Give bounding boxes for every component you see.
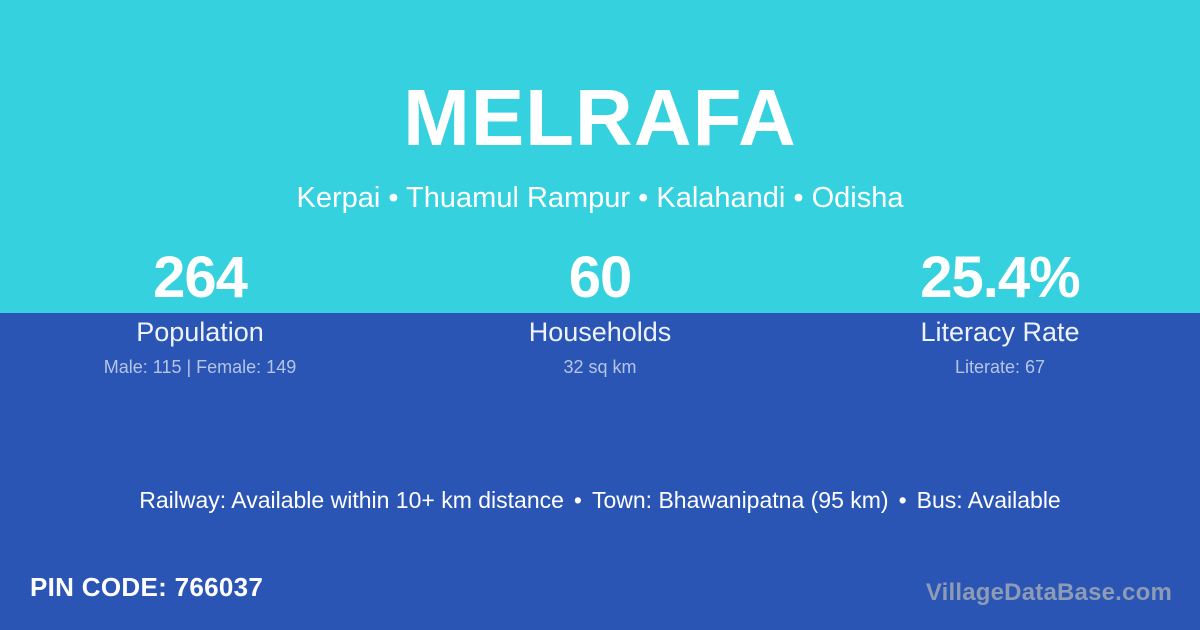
- stat-detail-population: Male: 115 | Female: 149: [0, 356, 400, 378]
- bus-info: Bus: Available: [917, 487, 1061, 513]
- site-brand-watermark: VillageDataBase.com: [926, 578, 1172, 608]
- stat-population: 264 Population Male: 115 | Female: 149: [0, 243, 400, 378]
- stat-value-households: 60: [400, 243, 800, 313]
- stat-literacy-rate: 25.4% Literacy Rate Literate: 67: [800, 243, 1200, 378]
- pin-code-label: PIN CODE: 766037: [30, 571, 263, 603]
- stat-detail-households: 32 sq km: [400, 356, 800, 378]
- stat-label-households: Households: [400, 316, 800, 348]
- stat-households: 60 Households 32 sq km: [400, 243, 800, 378]
- page-title: MELRAFA: [0, 78, 1200, 158]
- railway-info: Railway: Available within 10+ km distanc…: [139, 487, 564, 513]
- stat-detail-literacy-rate: Literate: 67: [800, 356, 1200, 378]
- stat-label-literacy-rate: Literacy Rate: [800, 316, 1200, 348]
- connectivity-info-line: Railway: Available within 10+ km distanc…: [0, 485, 1200, 515]
- bullet-separator-icon: •: [889, 485, 917, 515]
- stat-value-population: 264: [0, 243, 400, 313]
- card-header: MELRAFA Kerpai • Thuamul Rampur • Kalaha…: [0, 0, 1200, 240]
- stats-row: 264 Population Male: 115 | Female: 149 6…: [0, 243, 1200, 378]
- village-info-card: MELRAFA Kerpai • Thuamul Rampur • Kalaha…: [0, 0, 1200, 630]
- stat-label-population: Population: [0, 316, 400, 348]
- bullet-separator-icon: •: [564, 485, 592, 515]
- breadcrumb: Kerpai • Thuamul Rampur • Kalahandi • Od…: [0, 180, 1200, 218]
- town-info: Town: Bhawanipatna (95 km): [592, 487, 889, 513]
- card-footer: PIN CODE: 766037 VillageDataBase.com: [0, 560, 1200, 630]
- stat-value-literacy-rate: 25.4%: [800, 243, 1200, 313]
